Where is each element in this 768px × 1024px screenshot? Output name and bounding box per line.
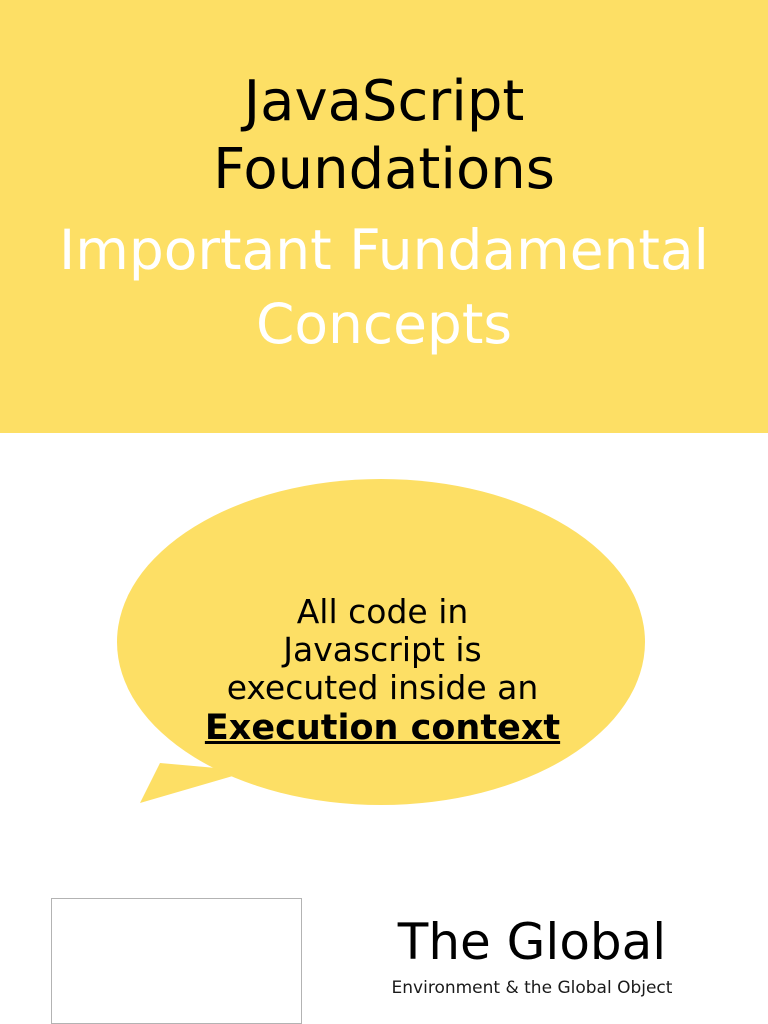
page-title: JavaScript Foundations bbox=[0, 68, 768, 204]
page-subtitle: Important Fundamental Concepts bbox=[0, 213, 768, 361]
content-placeholder-box[interactable] bbox=[51, 898, 302, 1024]
speech-bubble-section: All code in Javascript is executed insid… bbox=[0, 433, 768, 888]
speech-bubble-body: All code in Javascript is executed insid… bbox=[227, 592, 539, 707]
title-banner: JavaScript Foundations Important Fundame… bbox=[0, 0, 768, 433]
global-section-subtitle: Environment & the Global Object bbox=[386, 978, 678, 998]
speech-bubble-text: All code in Javascript is executed insid… bbox=[180, 555, 585, 785]
global-section-title: The Global bbox=[396, 914, 668, 970]
bottom-section: The Global Environment & the Global Obje… bbox=[0, 888, 768, 1024]
speech-bubble-emphasis: Execution context bbox=[180, 707, 585, 747]
